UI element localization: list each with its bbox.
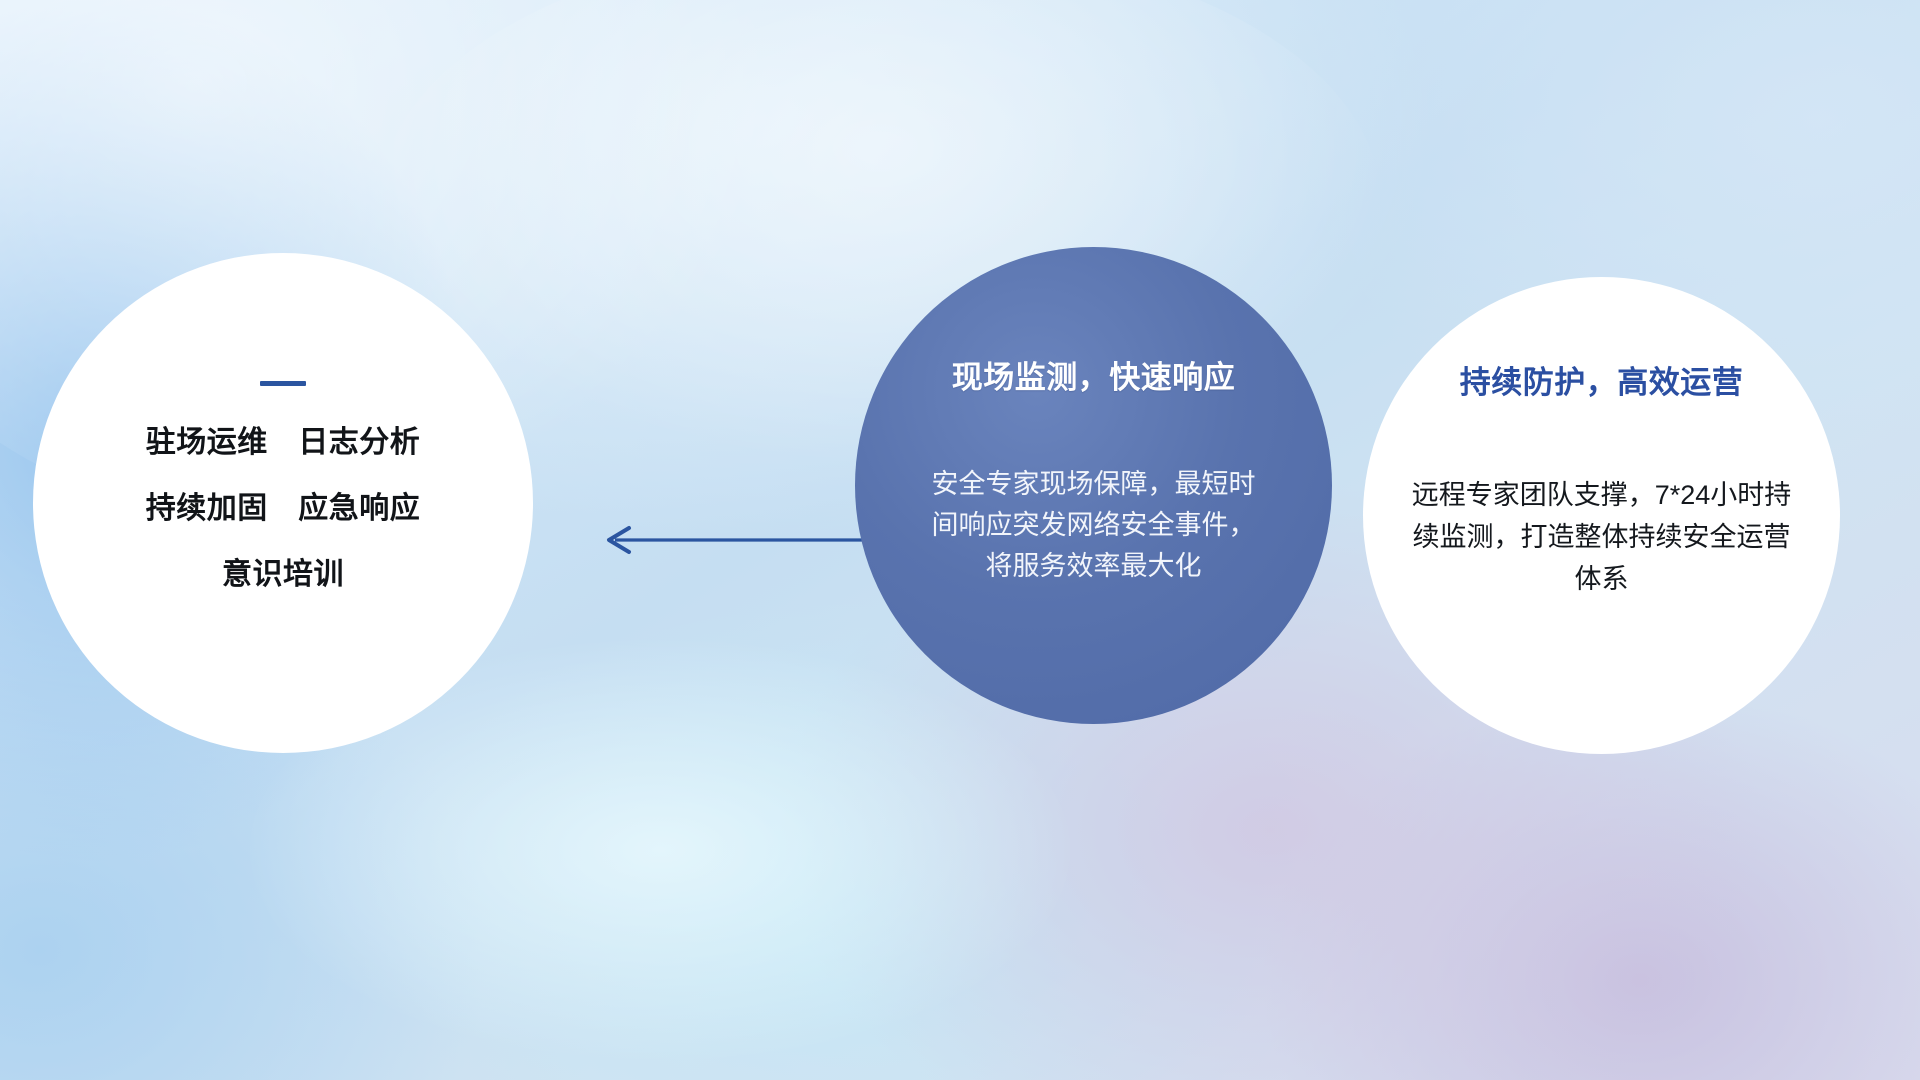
middle-circle-content: 现场监测，快速响应 安全专家现场保障，最短时间响应突发网络安全事件，将服务效率最… [855,247,1332,724]
left-arrow-icon [595,512,875,568]
capability-line: 意识培训 [33,560,533,590]
capability-line: 驻场运维 日志分析 [33,428,533,458]
left-capability-circle[interactable]: 驻场运维 日志分析 持续加固 应急响应 意识培训 [33,253,533,753]
right-circle-content: 持续防护，高效运营 远程专家团队支撑，7*24小时持续监测，打造整体持续安全运营… [1363,277,1840,754]
right-circle-body: 远程专家团队支撑，7*24小时持续监测，打造整体持续安全运营体系 [1407,474,1797,600]
capability-line: 持续加固 应急响应 [33,494,533,524]
right-circle-title: 持续防护，高效运营 [1460,357,1744,402]
right-service-circle[interactable]: 持续防护，高效运营 远程专家团队支撑，7*24小时持续监测，打造整体持续安全运营… [1363,277,1840,754]
middle-service-circle[interactable]: 现场监测，快速响应 安全专家现场保障，最短时间响应突发网络安全事件，将服务效率最… [855,247,1332,724]
middle-circle-body: 安全专家现场保障，最短时间响应突发网络安全事件，将服务效率最大化 [929,464,1259,587]
middle-circle-title: 现场监测，快速响应 [952,352,1236,397]
slide-canvas: 驻场运维 日志分析 持续加固 应急响应 意识培训 现场监测，快速响应 安全专家现… [0,0,1920,1080]
capability-list: 驻场运维 日志分析 持续加固 应急响应 意识培训 [33,428,533,590]
accent-dash-icon [260,381,306,386]
